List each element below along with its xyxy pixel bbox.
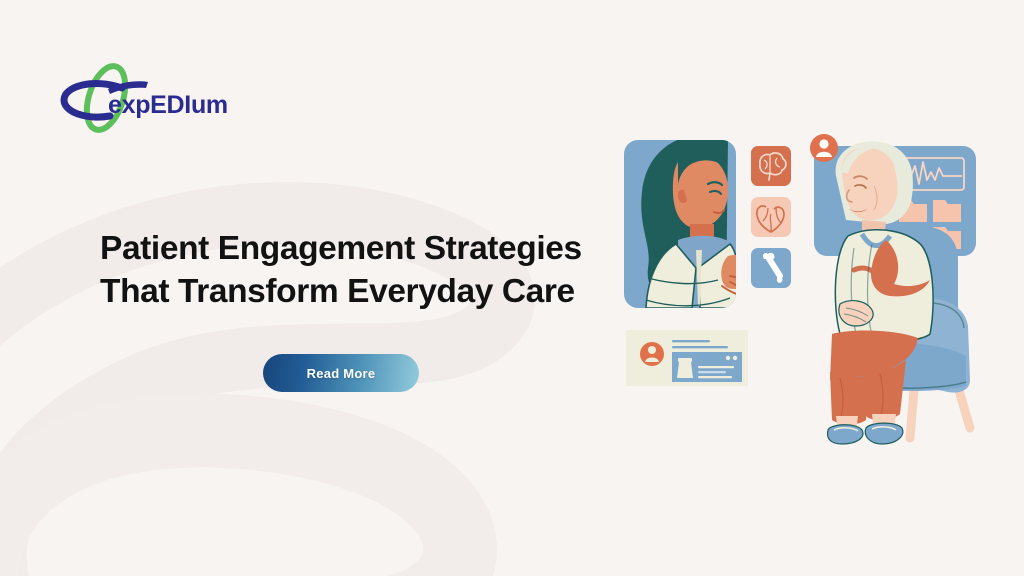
page-title: Patient Engagement Strategies That Trans… (100, 228, 640, 314)
icon-card-bone (751, 248, 791, 288)
patient-record-card (626, 330, 748, 386)
expedium-logo[interactable]: expEDIum (58, 62, 238, 134)
read-more-button[interactable]: Read More (263, 354, 419, 392)
icon-card-heart (751, 197, 791, 237)
icon-card-brain (751, 146, 791, 186)
headline-line-1: Patient Engagement Strategies (100, 230, 582, 267)
logo-wordmark: expEDIum (108, 91, 228, 119)
avatar-badge (810, 134, 838, 162)
patient-slippers (828, 423, 903, 444)
doctor-patient-consultation-illustration (618, 128, 990, 458)
headline-line-2: That Transform Everyday Care (100, 271, 640, 314)
medicine-bottle-icon (677, 358, 693, 378)
doctor-figure (641, 135, 756, 308)
